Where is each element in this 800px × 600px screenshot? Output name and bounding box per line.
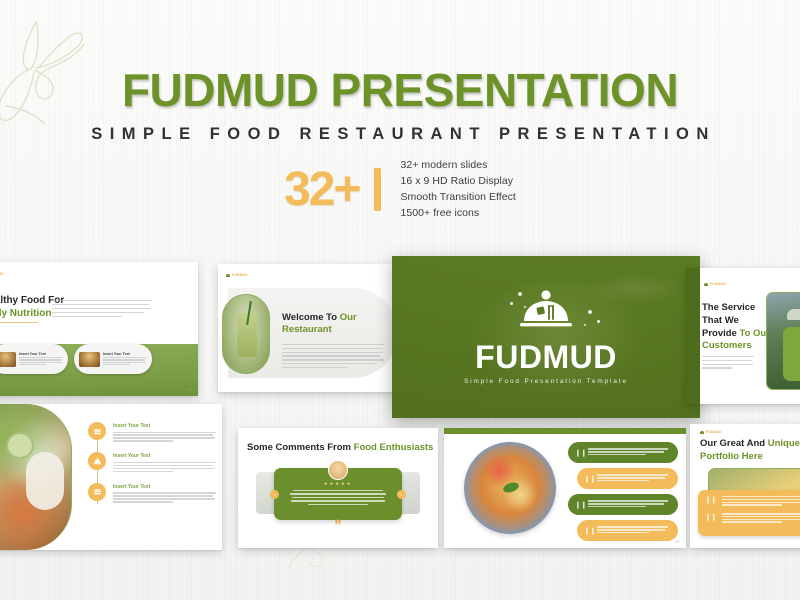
cloche-dome-icon bbox=[515, 289, 577, 333]
burger-icon bbox=[88, 483, 106, 501]
slide-title: Our Great And Unique Portfolio Here bbox=[700, 438, 800, 464]
page-subtitle: SIMPLE FOOD RESTAURANT PRESENTATION bbox=[0, 125, 800, 144]
smoothie-photo bbox=[222, 294, 270, 374]
burger-thumbnail bbox=[79, 352, 100, 367]
list-item[interactable]: ❙❙ bbox=[568, 494, 678, 515]
slide-title-line2: Restaurant bbox=[282, 324, 332, 335]
list-item[interactable]: ❙❙ bbox=[705, 496, 800, 507]
slide-thumbnail-menu[interactable]: ❙❙ ❙❙ ❙❙ ❙❙ bbox=[444, 428, 686, 548]
slide-title: Welcome To Our Restaurant bbox=[282, 312, 357, 337]
slide-title-accent: Our bbox=[340, 312, 357, 323]
list-item[interactable]: ❙❙ bbox=[577, 520, 678, 541]
slide-title-line1: The Service bbox=[702, 302, 755, 313]
slide-title: Some Comments From Food Enthusiasts bbox=[247, 442, 433, 453]
feature-item: 16 x 9 HD Ratio Display bbox=[401, 174, 516, 190]
slide-mini-logo: FUDMUD bbox=[0, 272, 4, 276]
cloche-dome-icon bbox=[700, 431, 704, 434]
slide-title-line2: Body Nutrition bbox=[0, 308, 51, 319]
menu-rows: ❙❙ ❙❙ ❙❙ ❙❙ bbox=[568, 442, 678, 546]
rice-shape bbox=[26, 452, 64, 510]
prev-testimonial-button[interactable]: ‹ bbox=[270, 490, 279, 499]
fork-knife-icon: ❙❙ bbox=[575, 501, 583, 509]
slide-mini-logo: FUDMUD bbox=[700, 430, 722, 434]
preview-canvas: FUDMUD PRESENTATION SIMPLE FOOD RESTAURA… bbox=[0, 0, 800, 600]
list-item[interactable]: ❙❙ bbox=[568, 442, 678, 463]
info-card[interactable]: Insert Your Text bbox=[0, 344, 68, 374]
fork-knife-icon: ❙❙ bbox=[705, 496, 717, 507]
fork-knife-icon: ❙❙ bbox=[575, 449, 583, 457]
green-top-band bbox=[444, 428, 686, 434]
mini-logo-label: FUDMUD bbox=[0, 272, 4, 276]
list-item-heading: Insert Your Text bbox=[113, 484, 216, 490]
feature-rows: Insert Your Text Insert Your Text bbox=[88, 422, 216, 513]
slide-title-plain: Some Comments From bbox=[247, 442, 354, 453]
slide-thumbnail-portfolio[interactable]: FUDMUD Our Great And Unique Portfolio He… bbox=[690, 424, 800, 548]
backpack-shape bbox=[783, 327, 800, 381]
cover-brand-name: FUDMUD bbox=[392, 341, 700, 373]
slide-thumbnail-healthy-food[interactable]: FUDMUD Healthy Food For Body Nutrition I… bbox=[0, 262, 198, 396]
slide-paragraph bbox=[282, 344, 384, 370]
cloche-icon bbox=[88, 452, 106, 470]
divider-bar bbox=[374, 168, 381, 211]
slide-thumbnail-features[interactable]: Insert Your Text Insert Your Text bbox=[0, 404, 222, 550]
slide-title-accent2: Customers bbox=[702, 340, 752, 351]
list-item[interactable]: ❙❙ bbox=[577, 468, 678, 489]
slide-title-accent: Food Enthusiasts bbox=[354, 442, 434, 453]
list-item[interactable]: Insert Your Text bbox=[88, 422, 216, 443]
cover-logo-block: FUDMUD Simple Food Presentation Template bbox=[392, 289, 700, 385]
basil-leaf-shape bbox=[502, 481, 520, 495]
cloche-dome-icon bbox=[226, 274, 230, 277]
portfolio-overlay-card: ❙❙ ❙❙ bbox=[698, 490, 800, 536]
cover-tagline: Simple Food Presentation Template bbox=[392, 378, 700, 385]
avatar bbox=[328, 460, 348, 480]
customer-photo bbox=[766, 292, 800, 390]
star-rating: ★★★★★ bbox=[286, 481, 390, 487]
slide-page-number: 07 bbox=[676, 540, 680, 544]
slide-mini-logo: FUDMUD bbox=[704, 282, 726, 286]
slide-title-plain: Our Great And bbox=[700, 438, 768, 449]
page-title: FUDMUD PRESENTATION bbox=[0, 66, 800, 114]
list-item-heading: Insert Your Text bbox=[113, 453, 216, 459]
feature-strip: 32+ 32+ modern slides 16 x 9 HD Ratio Di… bbox=[0, 158, 800, 222]
slide-title-line2: Portfolio Here bbox=[700, 451, 763, 462]
slide-thumbnail-service[interactable]: FUDMUD The Service That We Provide To Ou… bbox=[686, 268, 800, 404]
cap-shape bbox=[787, 309, 800, 320]
slide-title-line3: Provide bbox=[702, 328, 740, 339]
accent-rule bbox=[0, 322, 38, 323]
slide-title: The Service That We Provide To Our Custo… bbox=[702, 302, 770, 353]
fork-knife-icon: ❙❙ bbox=[584, 527, 592, 535]
feature-list: 32+ modern slides 16 x 9 HD Ratio Displa… bbox=[401, 158, 516, 222]
quote-mark-icon: ❞ bbox=[334, 520, 342, 534]
info-card-heading: Insert Your Text bbox=[103, 352, 147, 356]
slide-paragraph bbox=[702, 356, 754, 371]
list-item-heading: Insert Your Text bbox=[113, 423, 216, 429]
info-card[interactable]: Insert Your Text bbox=[74, 344, 152, 374]
burger-thumbnail bbox=[0, 352, 16, 367]
feature-item: 32+ modern slides bbox=[401, 158, 516, 174]
hero-block: FUDMUD PRESENTATION SIMPLE FOOD RESTAURA… bbox=[0, 66, 800, 144]
slide-thumbnail-cover[interactable]: FUDMUD Simple Food Presentation Template bbox=[392, 256, 700, 418]
mini-logo-label: FUDMUD bbox=[710, 282, 726, 286]
slide-count: 32+ bbox=[284, 166, 359, 214]
fork-knife-icon: ❙❙ bbox=[705, 513, 717, 524]
mini-logo-label: FUDMUD bbox=[706, 430, 722, 434]
mini-logo-label: FUDMUD bbox=[232, 273, 248, 277]
slide-title-accent: Unique bbox=[768, 438, 800, 449]
fork-knife-icon: ❙❙ bbox=[584, 475, 592, 483]
slide-page-number: 01 bbox=[188, 388, 192, 392]
slide-paragraph bbox=[52, 300, 152, 320]
green-side-band bbox=[686, 268, 700, 404]
slide-mini-logo: FUDMUD bbox=[226, 273, 248, 277]
shrimp-rice-photo bbox=[0, 404, 72, 550]
slide-thumbnail-testimonials[interactable]: Some Comments From Food Enthusiasts ★★★★… bbox=[238, 428, 438, 548]
pasta-salad-photo bbox=[464, 442, 556, 534]
list-item[interactable]: Insert Your Text bbox=[88, 452, 216, 473]
list-item[interactable]: Insert Your Text bbox=[88, 483, 216, 504]
slide-title-plain: Welcome To bbox=[282, 312, 340, 323]
cloche-dome-icon bbox=[704, 283, 708, 286]
slide-thumbnail-welcome[interactable]: FUDMUD Welcome To Our Restaurant 02 bbox=[218, 264, 404, 392]
feature-item: 1500+ free icons bbox=[401, 206, 516, 222]
slide-title-line2: That We bbox=[702, 315, 739, 326]
feature-item: Smooth Transition Effect bbox=[401, 190, 516, 206]
next-testimonial-button[interactable]: › bbox=[397, 490, 406, 499]
burger-icon bbox=[88, 422, 106, 440]
cucumber-shape bbox=[6, 432, 34, 459]
list-item[interactable]: ❙❙ bbox=[705, 513, 800, 524]
info-card-heading: Insert Your Text bbox=[19, 352, 63, 356]
